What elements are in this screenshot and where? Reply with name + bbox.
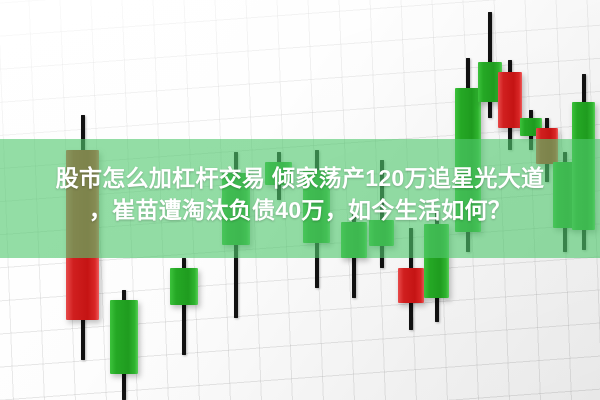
page-title: 股市怎么加杠杆交易 倾家荡产120万追星光大道 ，崔苗遭淘汰负债40万，如今生活… xyxy=(0,163,600,226)
screenshot-canvas: 股市怎么加杠杆交易 倾家荡产120万追星光大道 ，崔苗遭淘汰负债40万，如今生活… xyxy=(0,0,600,400)
candlestick-body-up xyxy=(110,300,138,374)
candlestick-body-down xyxy=(498,72,522,128)
candlestick-body-down xyxy=(398,268,424,303)
candlestick-body-up xyxy=(170,268,198,305)
